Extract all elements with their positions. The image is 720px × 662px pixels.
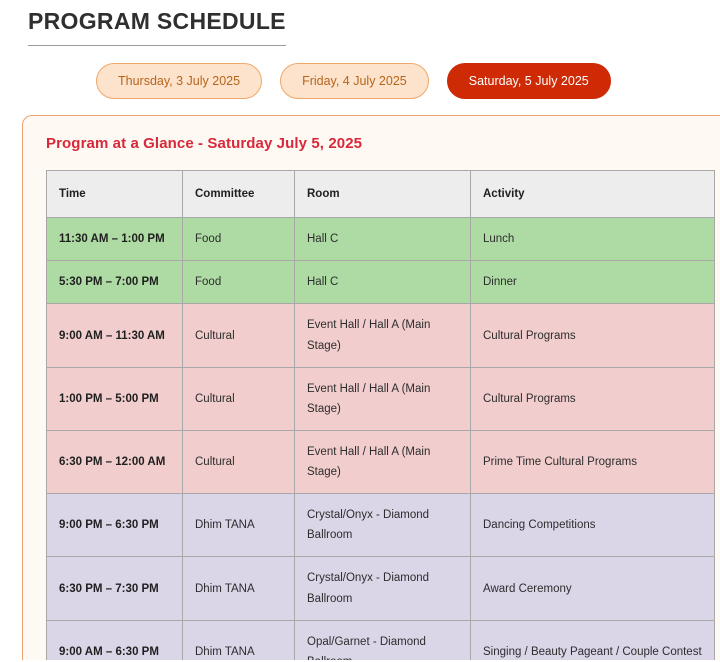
date-tab-2[interactable]: Saturday, 5 July 2025 bbox=[447, 63, 611, 100]
table-row: 5:30 PM – 7:00 PMFoodHall CDinner bbox=[47, 261, 715, 304]
cell-time: 1:00 PM – 5:00 PM bbox=[47, 367, 183, 430]
column-header-time: Time bbox=[47, 171, 183, 218]
table-row: 9:00 AM – 6:30 PMDhim TANAOpal/Garnet - … bbox=[47, 620, 715, 660]
table-row: 9:00 AM – 11:30 AMCulturalEvent Hall / H… bbox=[47, 304, 715, 367]
cell-activity: Dinner bbox=[471, 261, 715, 304]
column-header-activity: Activity bbox=[471, 171, 715, 218]
card-title: Program at a Glance - Saturday July 5, 2… bbox=[46, 135, 720, 152]
page-header: PROGRAM SCHEDULE bbox=[0, 0, 720, 46]
table-row: 11:30 AM – 1:00 PMFoodHall CLunch bbox=[47, 218, 715, 261]
cell-time: 11:30 AM – 1:00 PM bbox=[47, 218, 183, 261]
cell-room: Event Hall / Hall A (Main Stage) bbox=[295, 430, 471, 493]
page-title: PROGRAM SCHEDULE bbox=[28, 8, 286, 46]
cell-time: 9:00 PM – 6:30 PM bbox=[47, 494, 183, 557]
table-row: 9:00 PM – 6:30 PMDhim TANACrystal/Onyx -… bbox=[47, 494, 715, 557]
cell-time: 9:00 AM – 11:30 AM bbox=[47, 304, 183, 367]
cell-time: 6:30 PM – 12:00 AM bbox=[47, 430, 183, 493]
cell-committee: Dhim TANA bbox=[183, 620, 295, 660]
cell-room: Crystal/Onyx - Diamond Ballroom bbox=[295, 494, 471, 557]
cell-committee: Cultural bbox=[183, 430, 295, 493]
column-header-room: Room bbox=[295, 171, 471, 218]
cell-activity: Singing / Beauty Pageant / Couple Contes… bbox=[471, 620, 715, 660]
date-tab-bar: Thursday, 3 July 2025Friday, 4 July 2025… bbox=[0, 46, 720, 100]
cell-time: 9:00 AM – 6:30 PM bbox=[47, 620, 183, 660]
cell-activity: Prime Time Cultural Programs bbox=[471, 430, 715, 493]
cell-time: 5:30 PM – 7:00 PM bbox=[47, 261, 183, 304]
table-body: 11:30 AM – 1:00 PMFoodHall CLunch5:30 PM… bbox=[47, 218, 715, 660]
cell-committee: Food bbox=[183, 218, 295, 261]
table-header: TimeCommitteeRoomActivity bbox=[47, 171, 715, 218]
date-tab-1[interactable]: Friday, 4 July 2025 bbox=[280, 63, 429, 100]
cell-room: Hall C bbox=[295, 261, 471, 304]
table-row: 6:30 PM – 12:00 AMCulturalEvent Hall / H… bbox=[47, 430, 715, 493]
date-tab-0[interactable]: Thursday, 3 July 2025 bbox=[96, 63, 262, 100]
cell-committee: Cultural bbox=[183, 367, 295, 430]
schedule-table: TimeCommitteeRoomActivity 11:30 AM – 1:0… bbox=[46, 170, 715, 660]
cell-room: Opal/Garnet - Diamond Ballroom bbox=[295, 620, 471, 660]
cell-committee: Food bbox=[183, 261, 295, 304]
table-header-row: TimeCommitteeRoomActivity bbox=[47, 171, 715, 218]
cell-room: Event Hall / Hall A (Main Stage) bbox=[295, 367, 471, 430]
table-row: 6:30 PM – 7:30 PMDhim TANACrystal/Onyx -… bbox=[47, 557, 715, 620]
cell-activity: Dancing Competitions bbox=[471, 494, 715, 557]
cell-committee: Dhim TANA bbox=[183, 494, 295, 557]
cell-room: Crystal/Onyx - Diamond Ballroom bbox=[295, 557, 471, 620]
column-header-committee: Committee bbox=[183, 171, 295, 218]
cell-committee: Dhim TANA bbox=[183, 557, 295, 620]
cell-room: Hall C bbox=[295, 218, 471, 261]
cell-activity: Award Ceremony bbox=[471, 557, 715, 620]
cell-activity: Cultural Programs bbox=[471, 367, 715, 430]
schedule-card: Program at a Glance - Saturday July 5, 2… bbox=[22, 115, 720, 660]
cell-activity: Lunch bbox=[471, 218, 715, 261]
cell-activity: Cultural Programs bbox=[471, 304, 715, 367]
cell-committee: Cultural bbox=[183, 304, 295, 367]
table-row: 1:00 PM – 5:00 PMCulturalEvent Hall / Ha… bbox=[47, 367, 715, 430]
cell-room: Event Hall / Hall A (Main Stage) bbox=[295, 304, 471, 367]
cell-time: 6:30 PM – 7:30 PM bbox=[47, 557, 183, 620]
